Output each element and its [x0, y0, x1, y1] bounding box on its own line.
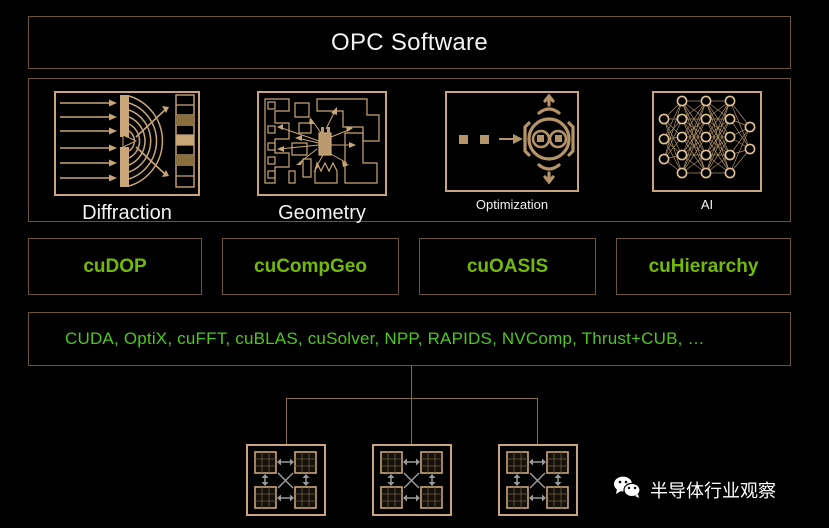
diffraction-icon — [54, 91, 200, 196]
library-label-cudop: cuDOP — [83, 256, 146, 278]
library-label-cucompgeo: cuCompGeo — [254, 256, 367, 278]
opc-software-panel: OPC Software — [28, 16, 791, 69]
capability-label-optimization: Optimization — [476, 198, 548, 212]
cuda-stack-panel: CUDA, OptiX, cuFFT, cuBLAS, cuSolver, NP… — [28, 312, 791, 366]
geometry-layout-icon — [257, 91, 387, 196]
capability-label-geometry: Geometry — [278, 202, 366, 224]
library-box-cuoasis[interactable]: cuOASIS — [419, 238, 596, 295]
cuda-stack-label: CUDA, OptiX, cuFFT, cuBLAS, cuSolver, NP… — [29, 329, 705, 349]
library-label-cuhierarchy: cuHierarchy — [649, 256, 759, 278]
library-box-cucompgeo[interactable]: cuCompGeo — [222, 238, 399, 295]
connector-drop-right — [537, 398, 538, 444]
optimization-robot-icon — [445, 91, 579, 192]
capability-label-ai: AI — [701, 198, 713, 212]
watermark-text: 半导体行业观察 — [650, 477, 776, 503]
library-label-cuoasis: cuOASIS — [467, 256, 548, 278]
connector-stem — [411, 366, 412, 444]
gpu-cluster-2 — [372, 444, 452, 516]
watermark: 半导体行业观察 — [613, 476, 776, 503]
capability-label-diffraction: Diffraction — [82, 202, 172, 224]
page-title: OPC Software — [331, 29, 488, 57]
capability-ai: AI — [619, 79, 795, 223]
library-box-cuhierarchy[interactable]: cuHierarchy — [616, 238, 791, 295]
diagram-canvas: OPC Software — [0, 0, 829, 528]
capability-optimization: Optimization — [424, 79, 600, 223]
gpu-cluster-3 — [498, 444, 578, 516]
connector-drop-left — [286, 398, 287, 444]
library-box-cudop[interactable]: cuDOP — [28, 238, 202, 295]
connector-horizontal-bar — [286, 398, 538, 399]
neural-network-icon — [652, 91, 762, 192]
capability-geometry: Geometry — [234, 79, 410, 223]
capability-diffraction: Diffraction — [39, 79, 215, 223]
wechat-icon — [613, 476, 641, 503]
capability-icons-panel: Diffraction — [28, 78, 791, 222]
gpu-cluster-1 — [246, 444, 326, 516]
